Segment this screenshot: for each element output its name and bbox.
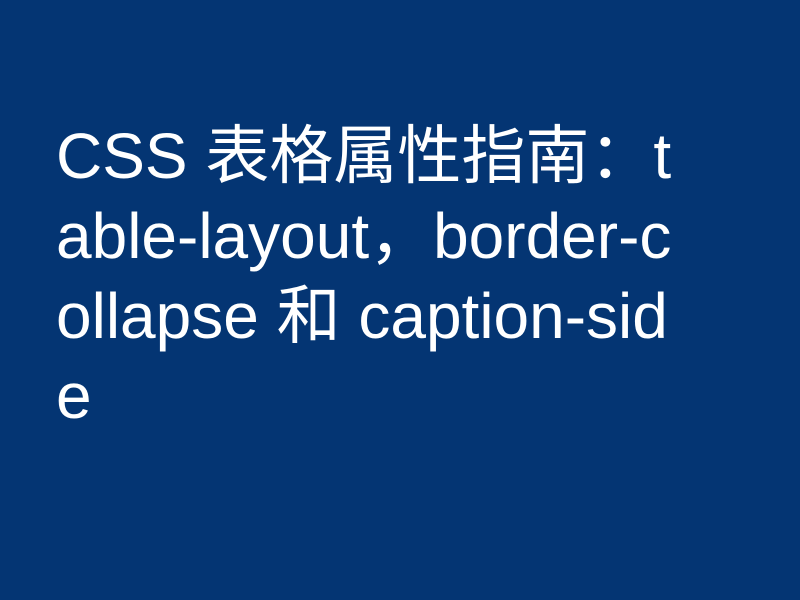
headline-block: CSS 表格属性指南：table-layout，border-collapse … — [56, 116, 680, 436]
title-card: CSS 表格属性指南：table-layout，border-collapse … — [0, 0, 800, 600]
page-title: CSS 表格属性指南：table-layout，border-collapse … — [56, 116, 680, 436]
